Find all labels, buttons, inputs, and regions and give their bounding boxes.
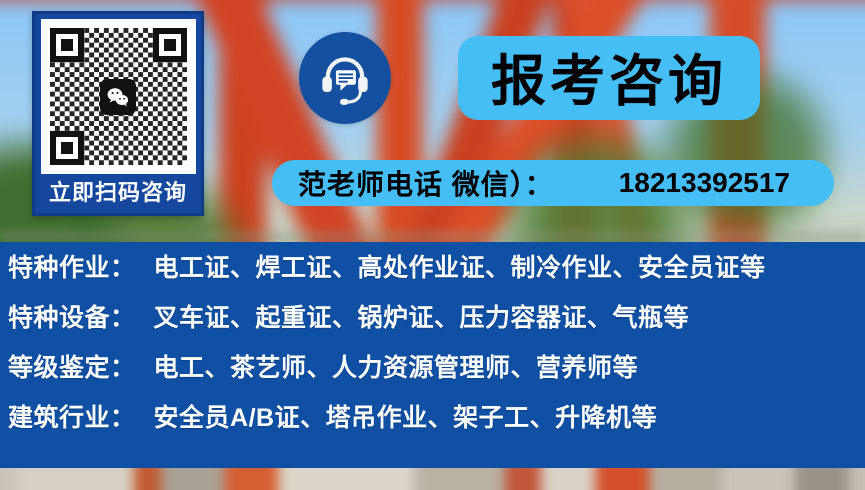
row-items: 电工、茶艺师、人力资源管理师、营养师等: [154, 356, 639, 381]
headset-support-icon[interactable]: [299, 32, 391, 124]
list-row: 特种作业： 电工证、焊工证、高处作业证、制冷作业、安全员证等: [0, 256, 865, 306]
title-pill[interactable]: 报考咨询: [458, 36, 760, 120]
phone-label: 范老师电话 微信）：: [298, 163, 554, 203]
phone-number[interactable]: 18213392517: [619, 167, 808, 199]
list-row: 特种设备： 叉车证、起重证、锅炉证、压力容器证、气瓶等: [0, 306, 865, 356]
row-category: 等级鉴定：: [8, 356, 136, 381]
row-items: 叉车证、起重证、锅炉证、压力容器证、气瓶等: [154, 306, 690, 331]
row-category: 特种设备：: [8, 306, 136, 331]
wechat-icon: [100, 79, 136, 115]
qr-code-image[interactable]: [41, 19, 196, 174]
list-row: 等级鉴定： 电工、茶艺师、人力资源管理师、营养师等: [0, 356, 865, 406]
row-items: 安全员A/B证、塔吊作业、架子工、升降机等: [154, 406, 658, 431]
certificate-list-panel: 特种作业： 电工证、焊工证、高处作业证、制冷作业、安全员证等 特种设备： 叉车证…: [0, 242, 865, 468]
row-category: 建筑行业：: [8, 406, 136, 431]
qr-caption-label: 立即扫码咨询: [49, 174, 187, 213]
row-category: 特种作业：: [8, 256, 136, 281]
footer-photo-strip: [0, 468, 865, 490]
qr-code-card[interactable]: 立即扫码咨询: [32, 11, 204, 216]
promotional-banner: 立即扫码咨询 报考咨询 范老师电话 微信）： 18213392517: [0, 0, 865, 490]
row-items: 电工证、焊工证、高处作业证、制冷作业、安全员证等: [154, 256, 766, 281]
phone-contact-pill[interactable]: 范老师电话 微信）： 18213392517: [272, 160, 834, 206]
qr-finder-top-right: [153, 28, 187, 62]
list-row: 建筑行业： 安全员A/B证、塔吊作业、架子工、升降机等: [0, 406, 865, 456]
qr-finder-top-left: [50, 28, 84, 62]
qr-finder-bottom-left: [50, 131, 84, 165]
photo-ground-band: [0, 232, 865, 242]
footer-photo-blurred: [0, 468, 865, 490]
